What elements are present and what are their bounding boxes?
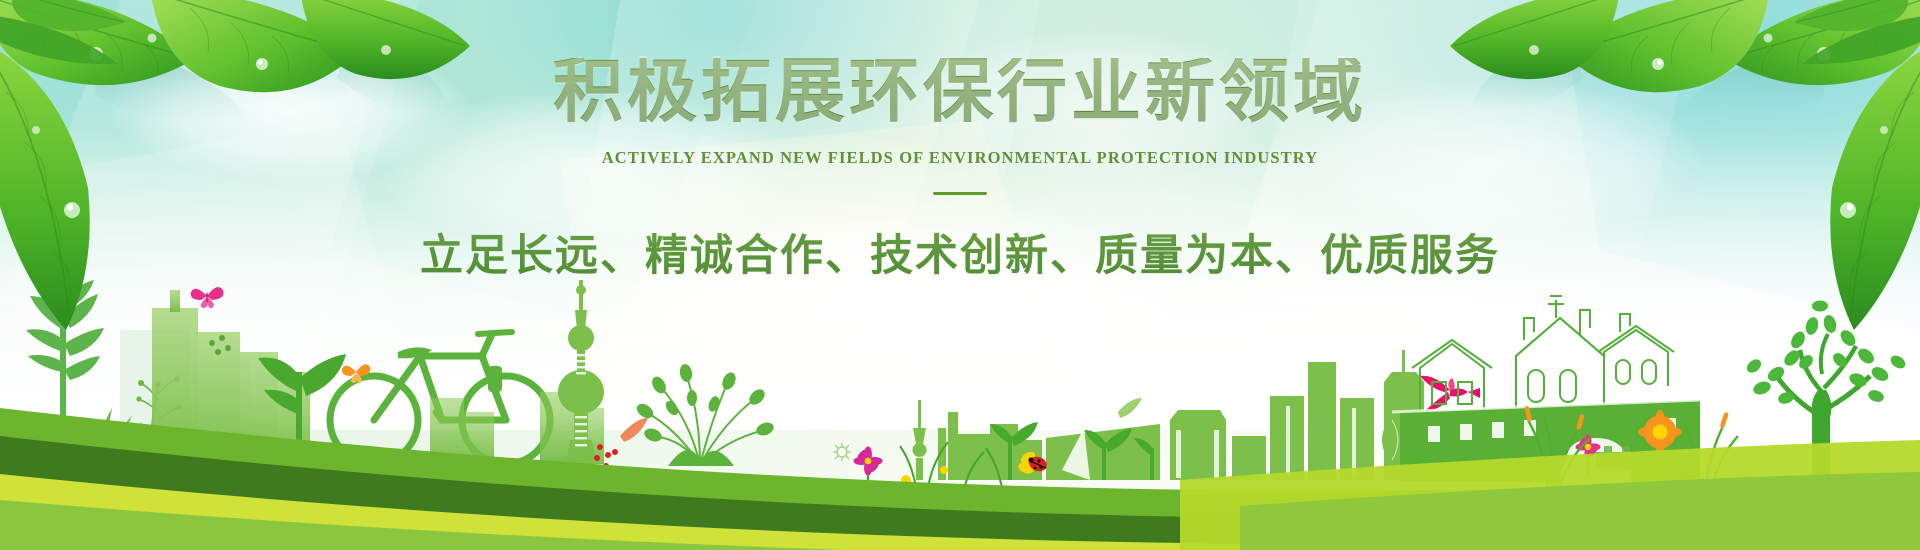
ladybug-icon: [1017, 449, 1049, 475]
butterfly-icon: [342, 364, 370, 383]
building-detail: [209, 335, 231, 355]
sunflower-icon: [1630, 410, 1686, 490]
grass-tuft-icon: [900, 442, 1004, 500]
bicycle-seat: [398, 347, 502, 392]
tree-icon: [1744, 301, 1907, 493]
grass-tuft-icon: [96, 408, 142, 462]
ghost-buildings: [120, 330, 250, 460]
dandelion-leaf: [634, 363, 775, 444]
wave-band-yellow-green: [0, 474, 1920, 550]
flower-icon: [1576, 435, 1601, 477]
hummingbird-icon: [1420, 376, 1480, 412]
sprout-icon: [990, 422, 1154, 480]
oriental-pearl-tower-icon: [558, 280, 604, 464]
house-base: [1400, 400, 1700, 482]
grass-tuft-icon: [1528, 416, 1738, 486]
flower-icon: [177, 435, 207, 465]
building-windows: [1176, 406, 1356, 478]
banner-subtitle: ACTIVELY EXPAND NEW FIELDS OF ENVIRONMEN…: [0, 148, 1920, 168]
wave-band-lime: [0, 500, 1920, 550]
dandelion-bud: [136, 376, 181, 410]
cattail-icon: [1524, 406, 1729, 431]
bicycle-icon: [330, 332, 550, 464]
flying-leaf-icon: [620, 418, 648, 442]
city-skyline-icon: [430, 392, 604, 464]
dandelion-icon: [646, 374, 764, 465]
sprout-icon: [258, 354, 346, 462]
banner-title: 积极拓展环保行业新领域: [0, 58, 1920, 128]
flying-leaf-icon: [1118, 398, 1142, 418]
banner-text-block: 积极拓展环保行业新领域 ACTIVELY EXPAND NEW FIELDS O…: [0, 58, 1920, 283]
wave-band-green: [0, 408, 1920, 550]
city-skyline-icon: [913, 350, 1427, 480]
wave-band-right-lime: [1180, 440, 1920, 550]
ghost-wall: [1596, 446, 1640, 470]
dandelion-base: [668, 450, 734, 466]
line-art-houses-icon: [1412, 296, 1674, 412]
eco-banner: 积极拓展环保行业新领域 ACTIVELY EXPAND NEW FIELDS O…: [0, 0, 1920, 550]
flower-icon: [854, 447, 883, 489]
dandelion-seed-icon: [833, 443, 851, 461]
banner-tagline: 立足长远、精诚合作、技术创新、质量为本、优质服务: [0, 221, 1920, 283]
wave-band-right-green: [1240, 472, 1920, 550]
flower-icon: [901, 466, 948, 485]
dome-lines: [1392, 414, 1416, 466]
red-berries: [594, 444, 618, 469]
city-skyline-icon: [152, 290, 310, 463]
house-windows: [1428, 418, 1676, 442]
butterfly-icon: [191, 287, 224, 308]
wave-band-dark-green: [0, 436, 1920, 550]
house-ledge: [1392, 400, 1700, 412]
dandelion-icon: [140, 380, 178, 455]
tower-rungs: [575, 354, 587, 446]
wave-bands: [0, 330, 1920, 550]
title-divider: [933, 192, 987, 195]
sapling-icon: [26, 272, 104, 460]
